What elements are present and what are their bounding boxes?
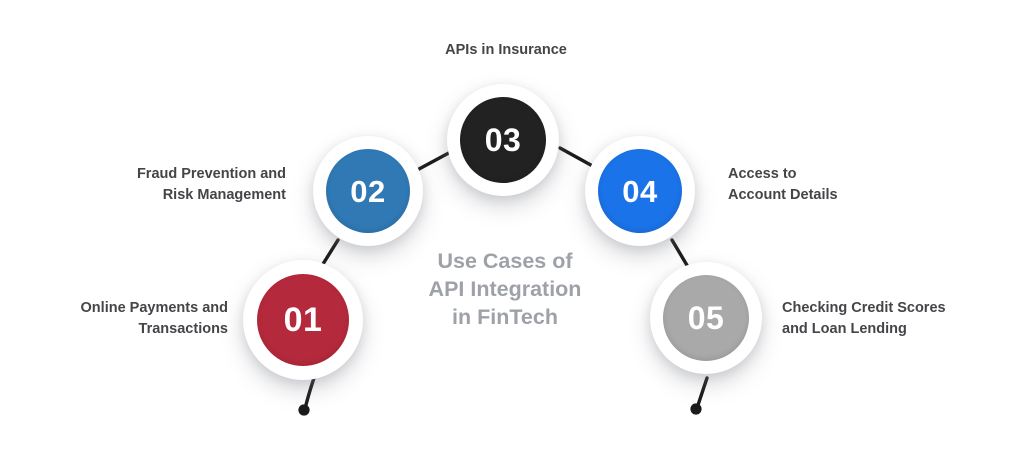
- node-number-03: 03: [485, 124, 522, 156]
- node-circle-01[interactable]: 01: [243, 260, 363, 380]
- node-disc-04: 04: [598, 149, 682, 233]
- node-disc-05: 05: [663, 275, 749, 361]
- center-title: Use Cases of API Integration in FinTech: [392, 248, 618, 332]
- node-circle-03[interactable]: 03: [447, 84, 559, 196]
- node-circle-04[interactable]: 04: [585, 136, 695, 246]
- node-number-04: 04: [622, 176, 657, 207]
- node-disc-03: 03: [460, 97, 546, 183]
- connector-lines: [0, 0, 1024, 456]
- node-number-05: 05: [688, 302, 725, 334]
- node-number-01: 01: [284, 303, 323, 337]
- node-circle-02[interactable]: 02: [313, 136, 423, 246]
- node-label-02: Fraud Prevention and Risk Management: [72, 164, 286, 205]
- node-number-02: 02: [350, 176, 385, 207]
- tail-dot-left: [298, 404, 309, 415]
- node-label-01: Online Payments and Transactions: [16, 298, 228, 339]
- node-disc-02: 02: [326, 149, 410, 233]
- node-label-05: Checking Credit Scores and Loan Lending: [782, 298, 1018, 339]
- node-label-03: APIs in Insurance: [396, 40, 616, 61]
- connector-tail-left: [305, 378, 314, 409]
- node-circle-05[interactable]: 05: [650, 262, 762, 374]
- infographic-canvas: Use Cases of API Integration in FinTech …: [0, 0, 1024, 456]
- node-disc-01: 01: [257, 274, 349, 366]
- node-label-04: Access to Account Details: [728, 164, 948, 205]
- connector-tail-right: [697, 378, 707, 408]
- tail-dot-right: [690, 403, 701, 414]
